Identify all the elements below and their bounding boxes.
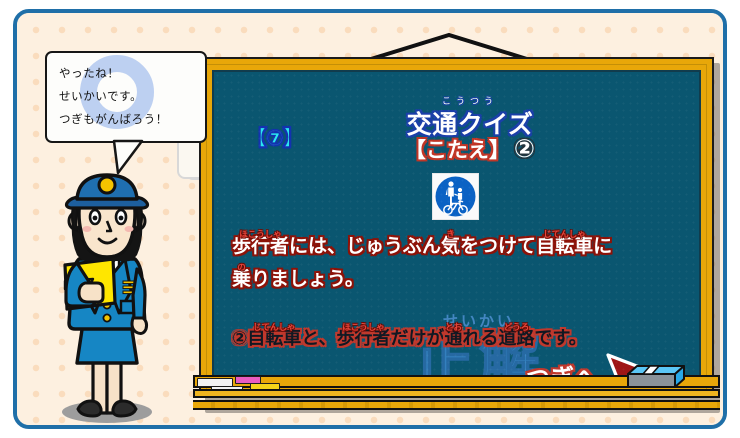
answer-header-label: 【こたえ】 [405,138,510,162]
base-text: に [593,235,612,257]
base-text: れる [463,328,499,349]
ruby-segment: です。 [535,324,587,354]
ruby-segment: と、 [301,324,336,354]
question-number: 【⑦】 [246,122,303,152]
text-line: ほこうしゃ歩行者には、じゅうぶんき気をつけてじてんしゃ自転車に [232,230,672,263]
furigana: ほこうしゃ [342,313,385,343]
answer-header-number: ② [514,134,535,163]
base-text: には、じゅうぶん [289,235,441,257]
ruby-segment: じてんしゃ自転車 [247,324,301,354]
chalk-tray [193,375,720,411]
police-officer-illustration [45,163,169,425]
base-text: りましょう。 [251,268,364,290]
ruby-segment: だけが [391,324,445,354]
speech-bubble: やったね！せいかいです。つぎもがんばろう！ [45,51,207,143]
ruby-segment: き気 [441,230,460,263]
furigana: どうろ [504,313,530,343]
ruby-segment: をつけて [460,230,536,263]
blackboard-eraser-icon[interactable] [625,364,687,390]
furigana: とお [445,313,462,343]
screen-root: せいかい 正解 【⑦】 こうつう 交通クイズ 【こたえ】② [0,0,740,438]
base-text: をつけて [460,235,536,257]
base-text: です。 [535,328,587,349]
furigana: じてんしゃ [543,219,586,252]
blackboard-frame: せいかい 正解 【⑦】 こうつう 交通クイズ 【こたえ】② [199,57,714,397]
explanation-text-block: ②じてんしゃ自転車と、ほこうしゃ歩行者だけがとお通れるどうろ道路です。 [232,324,672,354]
ruby-segment: じてんしゃ自転車 [536,230,593,263]
chalk-tray-top [193,375,720,388]
chalk-tray-base [193,400,720,410]
answer-header: 【こたえ】② [350,134,590,164]
ruby-segment: に [593,230,612,263]
speech-bubble-line: やったね！ [59,62,199,85]
base-text: と、 [301,328,336,349]
speech-bubble-line: せいかいです。 [59,85,199,108]
furigana: じてんしゃ [253,313,296,343]
base-text: ② [232,328,247,349]
furigana: ほこうしゃ [239,219,282,252]
blackboard: せいかい 正解 【⑦】 こうつう 交通クイズ 【こたえ】② [199,57,714,407]
chalk-tray-front [193,389,720,398]
ruby-segment: ほこうしゃ歩行者 [337,324,391,354]
answer-text-block: ほこうしゃ歩行者には、じゅうぶんき気をつけてじてんしゃ自転車にの乗りましょう。 [232,230,672,296]
speech-bubble-text: やったね！せいかいです。つぎもがんばろう！ [59,62,199,131]
ruby-segment: とお通 [445,324,463,354]
blackboard-surface: せいかい 正解 【⑦】 こうつう 交通クイズ 【こたえ】② [212,70,701,384]
speech-bubble-line: つぎもがんばろう！ [59,108,199,131]
ruby-segment: りましょう。 [251,263,364,296]
ruby-segment: どうろ道路 [499,324,535,354]
text-line: ②じてんしゃ自転車と、ほこうしゃ歩行者だけがとお通れるどうろ道路です。 [232,324,672,354]
furigana: き [446,219,455,252]
ruby-segment: には、じゅうぶん [289,230,441,263]
base-text: だけが [391,328,445,349]
ruby-segment: の乗 [232,263,251,296]
page-frame: せいかい 正解 【⑦】 こうつう 交通クイズ 【こたえ】② [13,9,727,429]
ruby-segment: ② [232,324,247,354]
ruby-segment: れる [463,324,499,354]
furigana: の [237,252,246,285]
text-line: の乗りましょう。 [232,263,672,296]
bicycle-and-pedestrian-only-sign-icon [432,173,479,220]
